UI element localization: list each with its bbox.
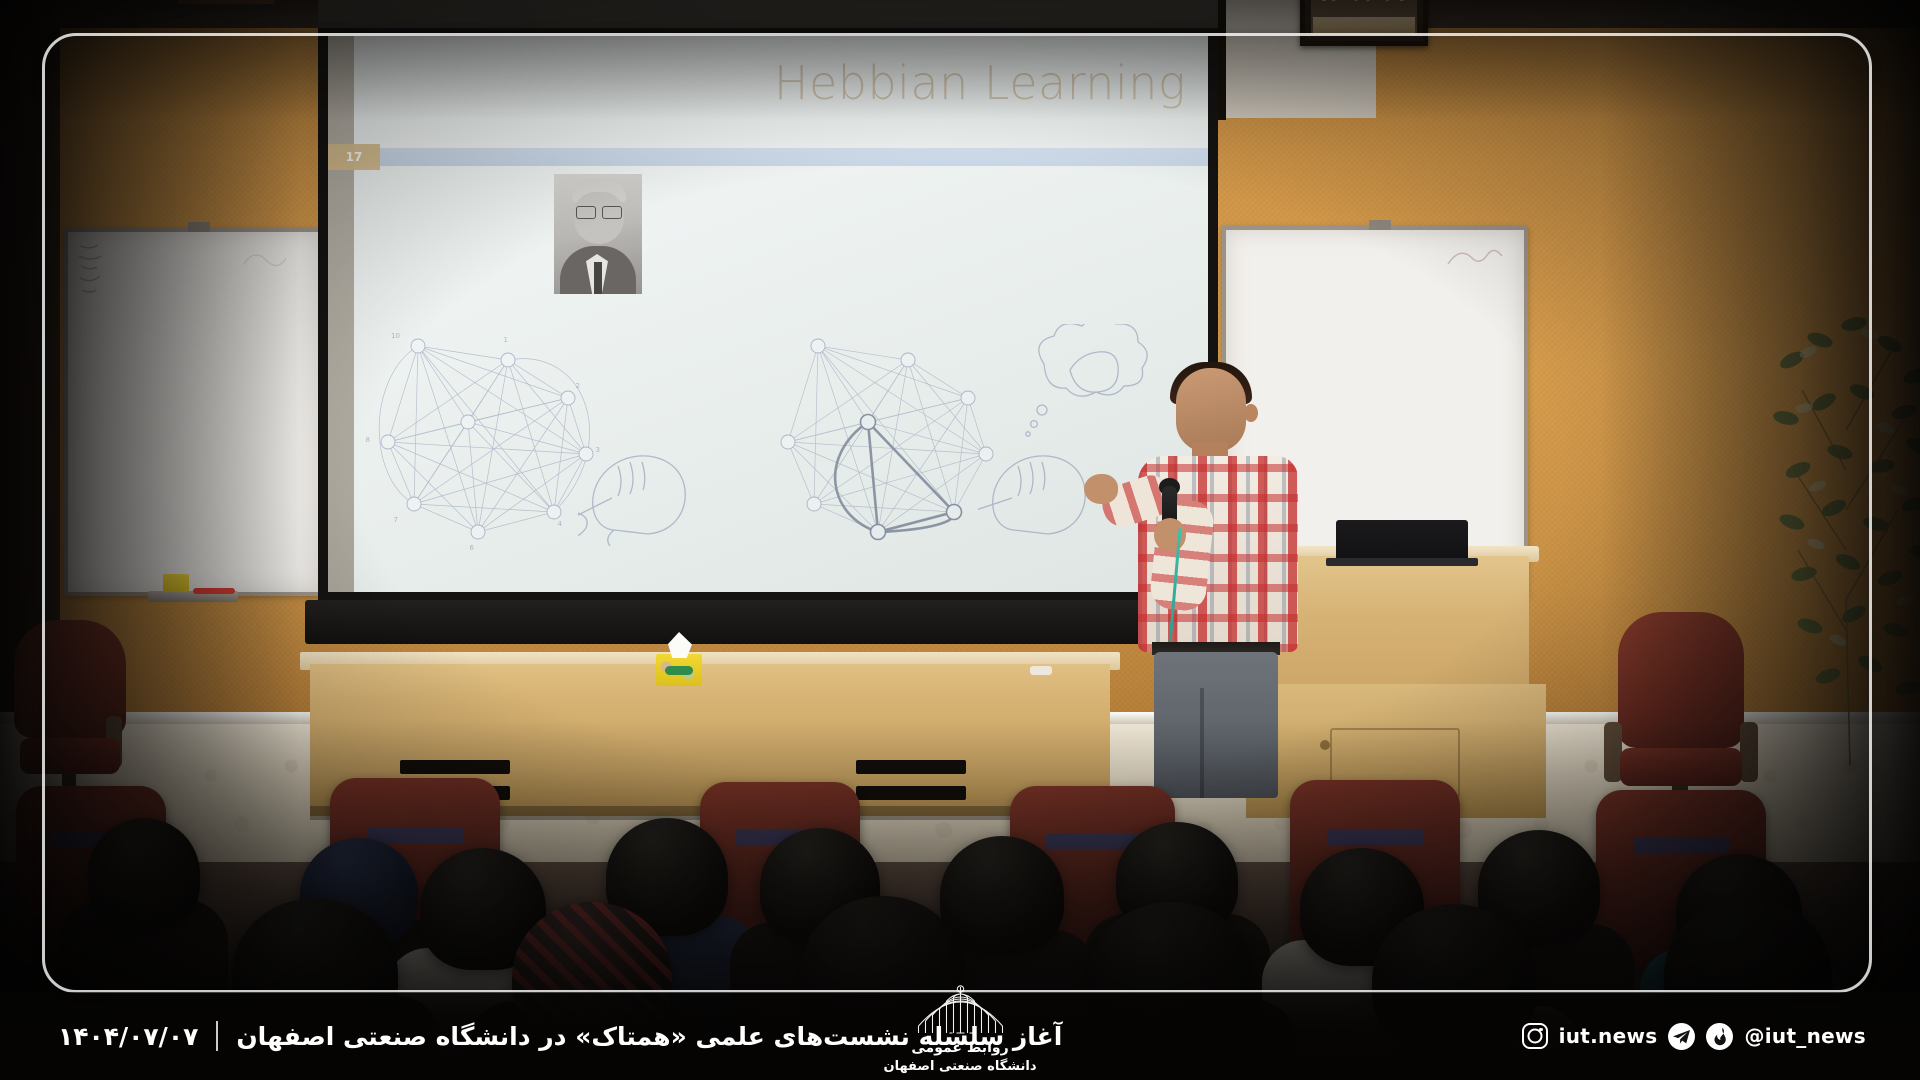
speaker-right-hand: [1154, 518, 1186, 552]
social-handles: iut.news @iut_news: [1522, 992, 1866, 1080]
telegram-icon[interactable]: [1668, 1023, 1695, 1050]
whiteboard-marker: [193, 588, 235, 594]
svg-text:4: 4: [558, 520, 563, 528]
tissue-box-label: [665, 666, 693, 675]
caption-date: ۱۴۰۴/۰۷/۰۷: [58, 1022, 198, 1051]
slide-number-badge: 17: [328, 144, 380, 170]
whiteboard-mount-right: [1369, 220, 1391, 230]
eitaa-icon[interactable]: [1706, 1023, 1733, 1050]
speaker-ear: [1244, 404, 1258, 422]
seat-label: [1633, 837, 1728, 853]
portrait-tie: [594, 262, 602, 294]
framed-calligraphy: لذا نقش مراد خود را خاموش نمایید: [1300, 0, 1428, 46]
desk-cup: [1030, 666, 1052, 675]
whiteboard-scribble-right-top: [238, 242, 304, 276]
public-relations-logo: روابط عمومی دانشگاه صنعتی اصفهان: [883, 983, 1036, 1074]
donald-hebb-portrait: [554, 174, 642, 294]
slide-accent-bar: [354, 148, 1208, 166]
lecture-hall-photo: لذا نقش مراد خود را خاموش نمایید ۷ ۰ ۵: [0, 0, 1920, 1080]
iut-public-relations-emblem: [901, 983, 1019, 1037]
framed-calligraphy-text: لذا نقش مراد خود را خاموش نمایید: [1298, 0, 1430, 2]
framed-calligraphy-band: [1313, 17, 1415, 33]
svg-text:6: 6: [470, 544, 475, 552]
head-sketch-left: [578, 436, 698, 546]
telegram-glyph: [1672, 1029, 1691, 1045]
whiteboard-scribble-left: [76, 240, 110, 302]
projector-screen-bottom-bar: [305, 600, 1225, 644]
speaker-left-hand: [1084, 474, 1118, 504]
whiteboard-scribble-right: [1444, 240, 1510, 274]
screenshot-root: لذا نقش مراد خود را خاموش نمایید ۷ ۰ ۵: [0, 0, 1920, 1080]
portrait-glasses: [576, 206, 622, 217]
laptop-on-podium: [1336, 520, 1468, 562]
laptop-base: [1326, 558, 1478, 566]
whiteboard-left: [64, 228, 322, 596]
svg-text:8: 8: [366, 436, 370, 444]
head-sketch-right: [978, 436, 1098, 546]
instagram-handle[interactable]: iut.news: [1559, 1024, 1658, 1048]
slide-left-margin: [328, 36, 354, 592]
whiteboard-eraser: [163, 574, 189, 592]
wall-plaque: ۷ ۰ ۵: [178, 0, 274, 4]
svg-text:2: 2: [576, 382, 580, 390]
seat-label: [367, 827, 462, 843]
tissue-box: [656, 654, 702, 686]
seat-label: [1327, 829, 1422, 845]
logo-line-2: دانشگاه صنعتی اصفهان: [883, 1059, 1036, 1074]
logo-line-1: روابط عمومی: [911, 1040, 1008, 1056]
whiteboard-mount-left: [188, 222, 210, 232]
caption-bar: آغاز سلسله نشست‌های علمی «همتاک» در دانش…: [0, 992, 1920, 1080]
projector-screen: Hebbian Learning 17: [328, 36, 1208, 592]
caption-divider: [216, 1021, 218, 1051]
audience-head: [940, 836, 1064, 954]
speaker-head: [1176, 368, 1246, 452]
audience-head: [88, 818, 200, 930]
slide-title: Hebbian Learning: [376, 56, 1186, 110]
svg-text:7: 7: [394, 516, 398, 524]
svg-text:10: 10: [391, 332, 400, 340]
messaging-handle[interactable]: @iut_news: [1744, 1024, 1866, 1048]
instagram-icon[interactable]: [1522, 1023, 1548, 1049]
svg-text:1: 1: [504, 336, 508, 344]
eitaa-glyph: [1712, 1027, 1727, 1046]
